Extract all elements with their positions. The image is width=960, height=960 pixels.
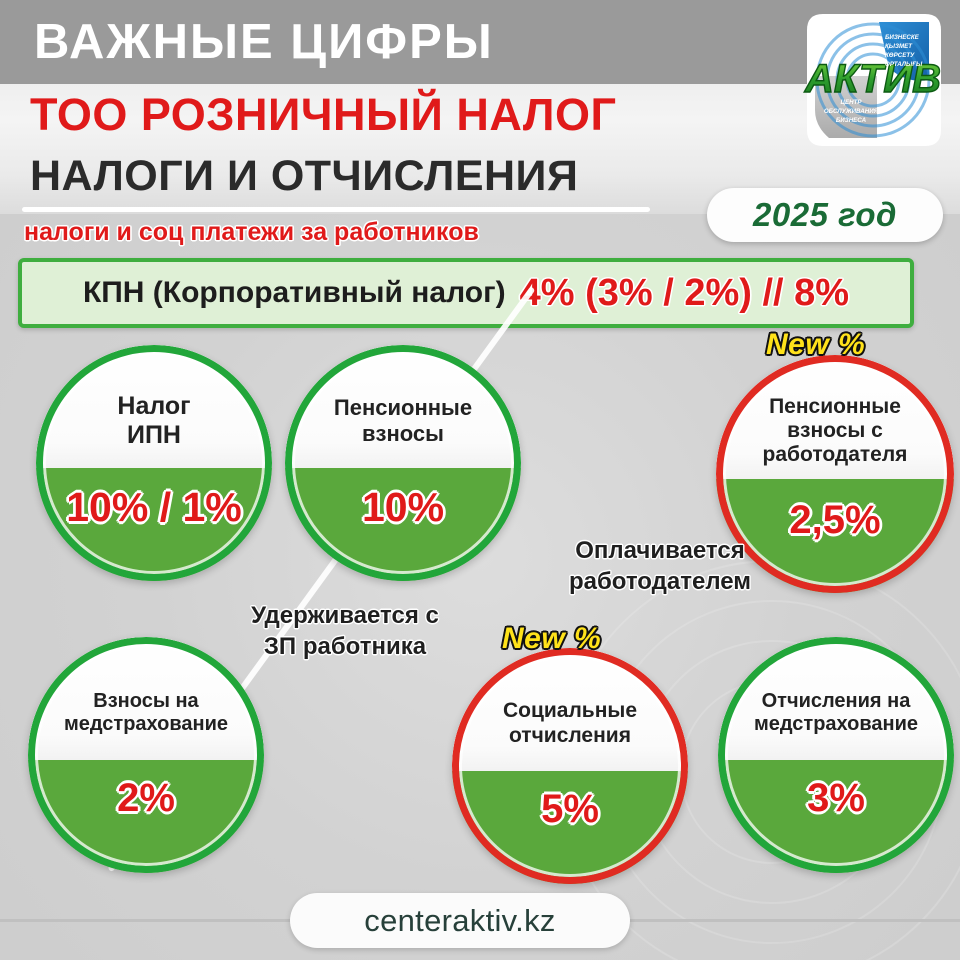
circle-percent: 5% (452, 787, 688, 832)
logo-ru-line1: ЦЕНТР (840, 99, 862, 106)
footer-line-right (624, 919, 960, 922)
new-badge-pension-employer: New % (766, 328, 865, 362)
logo-kk-line2: ҚЫЗМЕТ (885, 43, 913, 50)
circle-label: Пенсионныевзносы сработодателя (733, 381, 938, 481)
kpn-value: 4% (3% / 2%) // 8% (520, 272, 849, 315)
footer-site-label: centeraktiv.kz (364, 903, 555, 939)
note-paid-by-employer: Оплачиваетсяработодателем (540, 535, 780, 597)
footer-line-left (0, 919, 296, 922)
new-badge-social: New % (502, 622, 601, 656)
footer-site-badge[interactable]: centeraktiv.kz (290, 893, 630, 948)
circle-label: Пенсионныевзносы (302, 378, 505, 463)
logo-kk-line1: БИЗНЕСКЕ (885, 34, 920, 41)
aktiv-logo[interactable]: АКТИВ БИЗНЕСКЕ ҚЫЗМЕТ КӨРСЕТУ ОРТАЛЫҒЫ Ц… (789, 6, 956, 158)
year-badge: 2025 год (707, 188, 943, 242)
metric-circle-ipn[interactable]: НалогИПН 10% / 1% (36, 345, 272, 581)
circle-percent: 3% (718, 776, 954, 821)
metric-circle-med-contribution[interactable]: Взносы намедстрахование 2% (28, 637, 264, 873)
aktiv-logo-icon: АКТИВ БИЗНЕСКЕ ҚЫЗМЕТ КӨРСЕТУ ОРТАЛЫҒЫ Ц… (789, 6, 956, 158)
year-badge-label: 2025 год (753, 196, 897, 234)
metric-circle-social[interactable]: Социальныеотчисления 5% (452, 648, 688, 884)
metric-circle-pension[interactable]: Пенсионныевзносы 10% (285, 345, 521, 581)
circle-label: НалогИПН (53, 378, 256, 463)
page-title-secondary: НАЛОГИ И ОТЧИСЛЕНИЯ (30, 155, 578, 198)
logo-kk-line4: ОРТАЛЫҒЫ (885, 61, 923, 68)
page-eyebrow: ВАЖНЫЕ ЦИФРЫ (34, 18, 494, 67)
logo-ru-line2: ОБСЛУЖИВАНИЯ (824, 108, 879, 115)
logo-ru-line3: БИЗНЕСА (836, 117, 867, 124)
page-subtitle: налоги и соц платежи за работников (24, 220, 479, 245)
note-withheld-from-salary: Удерживается сЗП работника (215, 600, 475, 662)
infographic-poster: ВАЖНЫЕ ЦИФРЫ ТОО РОЗНИЧНЫЙ НАЛОГ НАЛОГИ … (0, 0, 960, 960)
title-divider (22, 207, 650, 212)
circle-label: Социальныеотчисления (469, 681, 672, 766)
page-title-primary: ТОО РОЗНИЧНЫЙ НАЛОГ (30, 92, 616, 137)
kpn-label: КПН (Корпоративный налог) (83, 276, 506, 310)
circle-percent: 10% / 1% (36, 484, 272, 531)
circle-percent: 2% (28, 776, 264, 821)
circle-label: Отчисления намедстрахование (735, 670, 938, 755)
kpn-banner: КПН (Корпоративный налог) 4% (3% / 2%) /… (18, 258, 914, 328)
circle-label: Взносы намедстрахование (45, 670, 248, 755)
metric-circle-med-deduction[interactable]: Отчисления намедстрахование 3% (718, 637, 954, 873)
logo-kk-line3: КӨРСЕТУ (885, 52, 915, 59)
circle-percent: 10% (285, 484, 521, 531)
